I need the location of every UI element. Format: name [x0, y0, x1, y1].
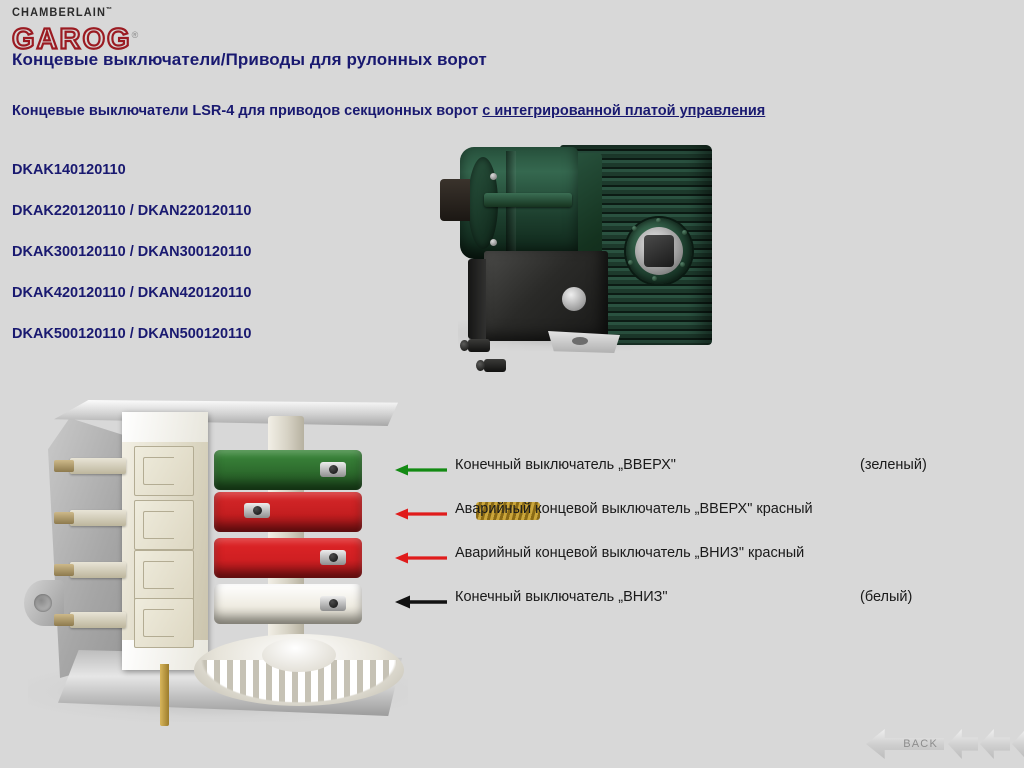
product-code-item: DKAK300120110 / DKAN300120110	[12, 242, 251, 283]
cam-disc-red-lower	[214, 538, 362, 578]
product-code-item: DKAK500120110 / DKAN500120110	[12, 324, 251, 365]
mounting-hole	[572, 337, 588, 345]
micro-switch	[134, 598, 194, 648]
cable-gland	[484, 359, 506, 372]
micro-switch	[134, 500, 194, 550]
cam-set-screw	[320, 462, 346, 477]
prev-arrow-3-button[interactable]	[1012, 729, 1024, 759]
product-code-list: DKAK140120110 DKAK220120110 / DKAN220120…	[12, 160, 251, 365]
terminal-tip	[54, 614, 74, 626]
cam-disc-white	[214, 584, 362, 624]
hub-bolt	[628, 260, 633, 265]
limit-switch-assembly-photo	[18, 392, 418, 742]
terminal-tip	[54, 564, 74, 576]
switch-block	[122, 412, 208, 670]
legend: Конечный выключатель „ВВЕРХ" (зеленый) А…	[395, 455, 1015, 631]
prev-arrow-1-button[interactable]	[948, 729, 978, 759]
control-terminal-box	[484, 251, 608, 341]
product-code-item: DKAK140120110	[12, 160, 251, 201]
legend-row: Конечный выключатель „ВВЕРХ" (зеленый)	[395, 455, 1015, 499]
micro-switch	[134, 446, 194, 496]
brass-actuator-pin	[160, 664, 169, 726]
cam-disc-red-upper	[214, 492, 362, 532]
motor-gearbox-photo	[440, 143, 712, 359]
legend-row: Конечный выключатель „ВНИЗ" (белый)	[395, 587, 1015, 631]
hub-bolt	[632, 226, 637, 231]
trademark-symbol: ™	[106, 7, 113, 13]
terminal-contact	[70, 612, 126, 628]
cam-set-screw	[320, 550, 346, 565]
page-title: Концевые выключатели/Приводы для рулонны…	[12, 50, 487, 70]
terminal-contact	[70, 562, 126, 578]
motor-lifting-rib	[484, 193, 572, 207]
subtitle-underlined-part: с интегрированной платой управления	[482, 103, 765, 119]
slide-page: CHAMBERLAIN™ GAROG® Концевые выключатели…	[0, 0, 1024, 768]
terminal-tip	[54, 460, 74, 472]
terminal-tip	[54, 512, 74, 524]
bracket-mounting-hole	[34, 594, 52, 612]
hub-bolt	[656, 218, 661, 223]
terminal-contact	[70, 510, 126, 526]
terminal-box-plug	[562, 287, 586, 311]
legend-color-note: (белый)	[860, 589, 912, 605]
micro-switch	[134, 550, 194, 600]
motor-rear-shaft	[440, 179, 470, 221]
legend-label: Конечный выключатель „ВНИЗ"	[455, 589, 668, 605]
motor-band	[506, 151, 516, 263]
motor-screw	[490, 239, 497, 246]
back-button[interactable]: BACK	[866, 729, 944, 759]
registered-symbol: ®	[132, 30, 141, 40]
legend-arrow-red-icon	[395, 507, 447, 521]
legend-arrow-red-icon	[395, 551, 447, 565]
legend-label: Конечный выключатель „ВВЕРХ"	[455, 457, 676, 473]
hub-bore	[644, 235, 674, 267]
back-button-label: BACK	[903, 738, 938, 750]
legend-color-note: (зеленый)	[860, 457, 927, 473]
product-code-item: DKAK420120110 / DKAN420120110	[12, 283, 251, 324]
bracket-top-plate	[54, 400, 398, 426]
legend-label: Аварийный концевой выключатель „ВВЕРХ" к…	[455, 501, 813, 517]
hub-bolt	[682, 230, 687, 235]
hub-metal-ring	[635, 227, 683, 275]
page-subtitle: Концевые выключатели LSR-4 для приводов …	[12, 101, 852, 122]
legend-arrow-green-icon	[395, 463, 447, 477]
cam-set-screw	[320, 596, 346, 611]
hub-bolt	[652, 276, 657, 281]
terminal-box-side	[468, 259, 486, 339]
subtitle-plain-part: Концевые выключатели LSR-4 для приводов …	[12, 103, 482, 119]
logo-chamberlain-text: CHAMBERLAIN™	[12, 4, 212, 19]
product-code-item: DKAK220120110 / DKAN220120110	[12, 201, 251, 242]
legend-row: Аварийный концевой выключатель „ВНИЗ" кр…	[395, 543, 1015, 587]
prev-arrow-2-button[interactable]	[980, 729, 1010, 759]
cam-set-screw	[244, 503, 270, 518]
legend-arrow-black-icon	[395, 595, 447, 609]
legend-label: Аварийный концевой выключатель „ВНИЗ" кр…	[455, 545, 804, 561]
hub-bolt	[680, 262, 685, 267]
cam-disc-green	[214, 450, 362, 490]
gearbox-output-hub	[626, 218, 692, 284]
legend-row: Аварийный концевой выключатель „ВВЕРХ" к…	[395, 499, 1015, 543]
bevel-gear-hub	[262, 638, 336, 672]
bevel-gear	[194, 634, 404, 706]
terminal-contact	[70, 458, 126, 474]
cam-face	[214, 492, 362, 532]
cable-gland	[468, 339, 490, 352]
motor-screw	[490, 173, 497, 180]
switch-block-top-cap	[122, 412, 208, 442]
motor-barrel	[460, 147, 578, 259]
brand-logo: CHAMBERLAIN™ GAROG®	[12, 4, 212, 44]
